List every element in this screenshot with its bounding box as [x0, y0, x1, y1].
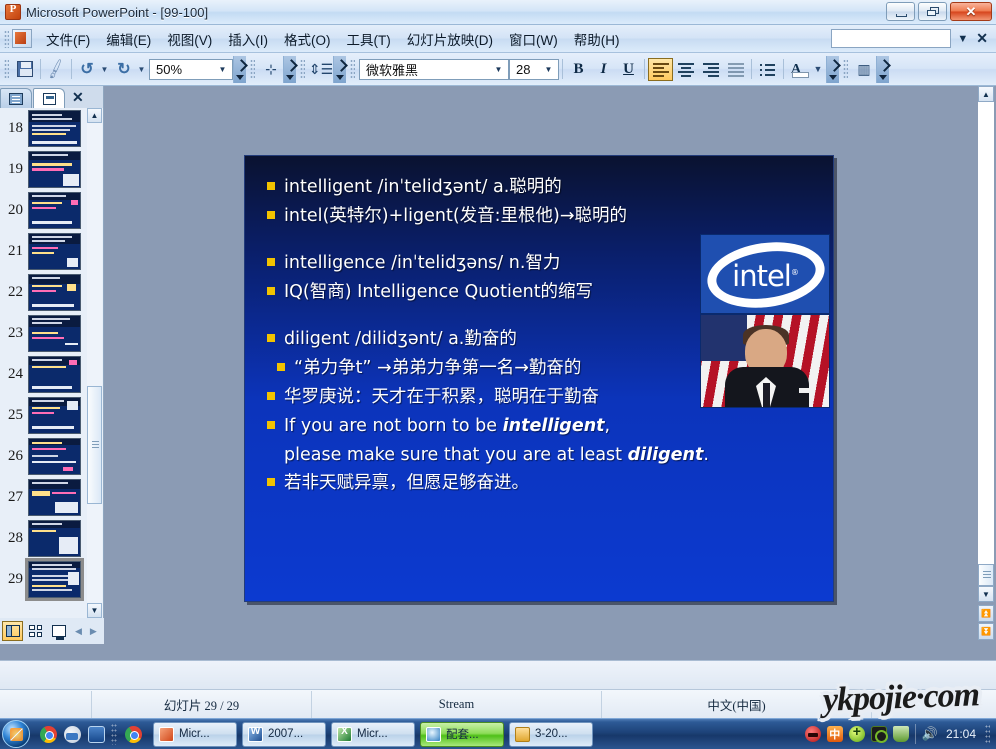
toolbar-overflow-button-3[interactable] — [333, 56, 346, 83]
quote2-prefix: please make sure that you are at least — [284, 445, 628, 465]
chrome-quicklaunch-icon[interactable] — [40, 726, 57, 743]
font-size-value: 28 — [516, 62, 530, 77]
scroll-down-icon[interactable]: ▼ — [978, 586, 994, 602]
task-label: Micr... — [357, 728, 388, 740]
scroll-up-icon[interactable]: ▲ — [978, 86, 994, 102]
font-name-value: 微软雅黑 — [366, 60, 418, 79]
photo-pocket-square — [799, 388, 809, 393]
bold-button[interactable]: B — [566, 58, 591, 81]
slide-thumbnail[interactable] — [28, 151, 81, 188]
slide-thumbnail[interactable] — [28, 274, 81, 311]
window-controls: ✕ — [886, 2, 992, 21]
taskbar-grip[interactable] — [111, 723, 117, 745]
slide-thumbnail[interactable] — [28, 315, 81, 352]
bullets-button[interactable] — [755, 58, 780, 81]
thumbnail-number: 28 — [2, 530, 28, 547]
slide-thumbnail[interactable] — [28, 438, 81, 475]
bullet-text: intelligent /inˈtelidʒənt/ a.聪明的 — [284, 173, 562, 201]
save-button[interactable] — [13, 58, 37, 81]
thumbnail-number: 22 — [2, 284, 28, 301]
slides-tab-icon — [43, 93, 56, 105]
bullet-text: intel(英特尔)+ligent(发音:里根他)→聪明的 — [284, 202, 627, 230]
toolbar-overflow-button-1[interactable] — [233, 56, 246, 83]
minimize-button[interactable] — [886, 2, 915, 21]
bullet-text: 若非天赋异禀，但愿足够奋进。 — [284, 469, 529, 497]
window-title: Microsoft PowerPoint - [99-100] — [26, 5, 208, 20]
sidebar-item-normal-view[interactable] — [2, 621, 23, 641]
align-right-button[interactable] — [698, 58, 723, 81]
slide-sorter-icon — [29, 625, 42, 637]
toolbar-drag-grip-5[interactable] — [843, 59, 848, 79]
intel-logo-text: intel — [701, 259, 829, 293]
menu-item-insert[interactable]: 插入(I) — [220, 26, 276, 52]
line-spacing-icon[interactable]: ⇕☰ — [309, 58, 333, 81]
toolbar-separator — [751, 59, 752, 79]
title-bar: Microsoft PowerPoint - [99-100] ✕ — [0, 0, 996, 25]
next-slide-icon[interactable]: ⏬ — [978, 623, 994, 640]
toolbar-drag-grip-4[interactable] — [350, 59, 355, 79]
thumbnail-number: 26 — [2, 448, 28, 465]
update-tray-icon[interactable] — [849, 726, 865, 742]
bullet-icon — [267, 478, 275, 486]
pane-tab-strip: ✕ — [0, 86, 103, 108]
toolbar-overflow-button-5[interactable] — [876, 56, 889, 83]
quote-line-2: please make sure that you are at least d… — [267, 441, 823, 469]
vertical-scrollbar[interactable]: ▲ ▼ ⏫ ⏬ — [978, 86, 994, 644]
font-name-combo[interactable]: 微软雅黑 ▼ — [359, 59, 509, 80]
font-color-dropdown-icon[interactable]: ▼ — [812, 58, 826, 81]
toolbar-overflow-button-4[interactable] — [826, 56, 839, 83]
chevron-down-icon[interactable]: ▼ — [957, 33, 968, 45]
toolbar-separator — [783, 59, 784, 79]
document-icon — [12, 29, 32, 48]
menu-bar: 文件(F) 编辑(E) 视图(V) 插入(I) 格式(O) 工具(T) 幻灯片放… — [0, 25, 996, 53]
tab-outline[interactable] — [0, 88, 32, 108]
slide-thumbnail[interactable] — [28, 110, 81, 147]
toolbar-separator — [562, 59, 563, 79]
bullet-line-quote[interactable]: If you are not born to be intelligent, — [267, 412, 823, 440]
toolbar-drag-grip[interactable] — [4, 59, 9, 79]
powerpoint-icon — [159, 727, 174, 742]
excel-icon — [337, 727, 352, 742]
font-color-icon: A — [791, 60, 808, 78]
underline-button[interactable]: U — [616, 58, 641, 81]
slide-counter: 幻灯片 29 / 29 — [92, 691, 312, 718]
bullets-icon — [760, 63, 775, 76]
menu-item-view[interactable]: 视图(V) — [159, 26, 220, 52]
media-icon — [426, 727, 441, 742]
toolbar-separator — [644, 59, 645, 79]
chevron-down-icon[interactable]: ▼ — [540, 60, 557, 79]
bullet-icon — [277, 363, 285, 371]
bullet-text: IQ(智商) Intelligence Quotient的缩写 — [284, 278, 593, 306]
align-center-button[interactable] — [673, 58, 698, 81]
bullet-line-2[interactable]: intel(英特尔)+ligent(发音:里根他)→聪明的 — [267, 202, 823, 230]
menu-item-format[interactable]: 格式(O) — [276, 26, 339, 52]
quote-emphasis-diligent: diligent — [628, 445, 704, 465]
powerpoint-window: Microsoft PowerPoint - [99-100] ✕ 文件(F) … — [0, 0, 996, 749]
format-painter-button[interactable]: 🖌 — [44, 58, 68, 81]
align-justify-icon — [728, 63, 744, 76]
quote-line-1: If you are not born to be intelligent, — [284, 412, 610, 440]
slide-editing-area[interactable]: intelligent /inˈtelidʒənt/ a.聪明的 intel(英… — [105, 86, 960, 644]
view-button-bar: ◀ ▶ — [0, 618, 104, 644]
font-size-combo[interactable]: 28 ▼ — [509, 59, 559, 80]
ime-chinese-icon[interactable]: 中 — [827, 726, 843, 742]
undo-dropdown-icon[interactable]: ▼ — [99, 58, 112, 81]
sidebar-item-slide-show[interactable] — [48, 621, 69, 641]
toolbar-separator — [40, 59, 41, 79]
windows-start-orb-icon[interactable] — [2, 720, 30, 748]
thumbnail-number: 21 — [2, 243, 28, 260]
bullet-icon — [267, 182, 275, 190]
task-excel[interactable]: Micr... — [331, 722, 415, 747]
thumbnail-number: 19 — [2, 161, 28, 178]
italic-button[interactable]: I — [591, 58, 616, 81]
outline-tab-icon — [9, 93, 23, 105]
tray-separator — [915, 724, 916, 744]
slide-canvas[interactable]: intelligent /inˈtelidʒənt/ a.聪明的 intel(英… — [244, 155, 834, 602]
menu-item-help[interactable]: 帮助(H) — [566, 26, 628, 52]
zoom-value: 50% — [156, 62, 182, 77]
menu-drag-grip[interactable] — [4, 30, 9, 48]
task-folder[interactable]: 3-20... — [509, 722, 593, 747]
quick-launch-bar — [40, 726, 105, 743]
bullet-text: “弟力争t” →弟弟力争第一名→勤奋的 — [294, 354, 581, 382]
toolbar-drag-grip-3[interactable] — [300, 59, 305, 79]
chrome-task-icon[interactable] — [125, 726, 142, 743]
scrollbar-track[interactable] — [978, 102, 994, 586]
quote-prefix: If you are not born to be — [284, 416, 503, 436]
quote2-suffix: . — [703, 445, 709, 465]
font-color-button[interactable]: A — [787, 58, 812, 81]
sidebar-item-slide-sorter[interactable] — [25, 621, 46, 641]
slides-outline-pane: ✕ 18 19 — [0, 86, 104, 644]
thumbnail-number: 24 — [2, 366, 28, 383]
bullet-icon — [267, 258, 275, 266]
quote-suffix: , — [605, 416, 611, 436]
scroll-down-icon[interactable]: ▼ — [87, 603, 102, 618]
align-left-button[interactable] — [648, 58, 673, 81]
toolbar-separator — [71, 59, 72, 79]
menu-item-slideshow[interactable]: 幻灯片放映(D) — [399, 26, 501, 52]
menu-item-edit[interactable]: 编辑(E) — [98, 26, 159, 52]
menu-item-file[interactable]: 文件(F) — [38, 26, 98, 52]
table-icon[interactable]: ▥ — [852, 58, 876, 81]
antivirus-tray-icon[interactable] — [805, 726, 821, 742]
show-desktop-strip[interactable] — [985, 724, 990, 744]
thumbnail-number: 23 — [2, 325, 28, 342]
align-justify-button[interactable] — [723, 58, 748, 81]
zoom-combo[interactable]: 50% ▼ — [149, 59, 233, 80]
powerpoint-icon — [5, 4, 21, 20]
slide-thumbnail[interactable] — [28, 356, 81, 393]
quote-emphasis-intelligent: intelligent — [503, 416, 605, 436]
bullet-text: diligent /dilidʒənt/ a.勤奋的 — [284, 325, 517, 353]
nvidia-tray-icon[interactable] — [871, 726, 887, 742]
task-powerpoint[interactable]: Micr... — [153, 722, 237, 747]
task-label: Micr... — [179, 728, 210, 740]
ronald-reagan-photo[interactable] — [700, 314, 830, 408]
restore-button[interactable] — [918, 2, 947, 21]
close-document-icon[interactable]: ✕ — [976, 30, 988, 47]
status-spacer — [0, 691, 92, 718]
task-list: Micr... 2007... Micr... 配套... 3-20... — [125, 722, 593, 747]
arrow-left-icon[interactable]: ◀ — [71, 626, 86, 637]
close-button[interactable]: ✕ — [950, 2, 992, 21]
bullet-line-8[interactable]: 若非天赋异禀，但愿足够奋进。 — [267, 469, 823, 497]
redo-dropdown-icon[interactable]: ▼ — [136, 58, 149, 81]
align-left-icon — [653, 63, 669, 76]
task-media-player[interactable]: 配套... — [420, 722, 504, 747]
task-word[interactable]: 2007... — [242, 722, 326, 747]
arrow-right-icon[interactable]: ▶ — [86, 626, 101, 637]
bullet-icon — [267, 392, 275, 400]
menu-item-window[interactable]: 窗口(W) — [501, 26, 566, 52]
right-scroll-region: ▲ ▼ ⏫ ⏬ — [960, 86, 996, 644]
bullet-icon — [267, 421, 275, 429]
thumbnail-number: 27 — [2, 489, 28, 506]
pane-scrollbar[interactable]: ▲ ▼ — [87, 108, 102, 618]
folder-icon — [515, 727, 530, 742]
thumbnail-number: 25 — [2, 407, 28, 424]
font-color-letter: A — [791, 62, 801, 77]
bullet-text: intelligence /inˈtelidʒəns/ n.智力 — [284, 249, 560, 277]
media-player-quicklaunch-icon[interactable] — [64, 726, 81, 743]
bullet-icon — [267, 287, 275, 295]
volume-icon[interactable]: 🔊 — [922, 726, 938, 742]
slide-show-icon — [52, 625, 66, 637]
normal-view-icon — [6, 625, 20, 637]
chevron-down-icon[interactable]: ▼ — [490, 60, 507, 79]
scrollbar-thumb[interactable] — [978, 564, 994, 586]
menu-item-tools[interactable]: 工具(T) — [339, 26, 399, 52]
task-label: 2007... — [268, 728, 303, 740]
align-right-icon — [703, 63, 719, 76]
formatting-toolbar: 🖌 ↺ ▼ ↻ ▼ 50% ▼ ⊹ ⇕☰ 微软雅黑 ▼ 28 ▼ B I U — [0, 53, 996, 86]
task-label: 3-20... — [535, 728, 568, 740]
align-center-icon — [678, 63, 694, 76]
slide-thumbnail[interactable] — [28, 397, 81, 434]
slide-thumbnail[interactable] — [28, 233, 81, 270]
slide-thumbnail[interactable] — [28, 520, 81, 557]
tab-slides[interactable] — [33, 88, 65, 108]
clock[interactable]: 21:04 — [946, 727, 976, 741]
security-tray-icon[interactable] — [893, 726, 909, 742]
undo-button[interactable]: ↺ — [75, 58, 99, 81]
thumbnail-number: 20 — [2, 202, 28, 219]
slide-thumbnail[interactable] — [28, 192, 81, 229]
thumbnail-number: 29 — [2, 571, 28, 588]
slide-thumbnail[interactable] — [28, 479, 81, 516]
task-label: 配套... — [446, 726, 479, 742]
toolbar-overflow-button-2[interactable] — [283, 56, 296, 83]
photo-tie — [763, 383, 770, 407]
flag-star-field — [701, 315, 747, 361]
ask-a-question-input[interactable] — [831, 29, 951, 48]
bullet-text: 华罗庚说：天才在于积累，聪明在于勤奋 — [284, 383, 599, 411]
chevron-down-icon[interactable]: ▼ — [214, 60, 231, 79]
decrease-indent-icon[interactable]: ⊹ — [259, 58, 283, 81]
show-desktop-icon[interactable] — [88, 726, 105, 743]
word-icon — [248, 727, 263, 742]
toolbar-drag-grip-2[interactable] — [250, 59, 255, 79]
design-template-name[interactable]: Stream — [312, 691, 602, 718]
bullet-icon — [267, 334, 275, 342]
redo-button[interactable]: ↻ — [112, 58, 136, 81]
close-pane-icon[interactable]: ✕ — [72, 89, 84, 106]
bullet-icon — [267, 211, 275, 219]
scroll-up-icon[interactable]: ▲ — [87, 108, 102, 123]
thumbnail-number: 18 — [2, 120, 28, 137]
previous-slide-icon[interactable]: ⏫ — [978, 605, 994, 622]
watermark: ykpojie·com — [811, 668, 991, 728]
scrollbar-thumb[interactable] — [87, 386, 102, 504]
bullet-line-1[interactable]: intelligent /inˈtelidʒənt/ a.聪明的 — [267, 173, 823, 201]
slide-thumbnail-selected[interactable] — [28, 561, 81, 598]
intel-logo-image[interactable]: intel — [700, 234, 830, 314]
